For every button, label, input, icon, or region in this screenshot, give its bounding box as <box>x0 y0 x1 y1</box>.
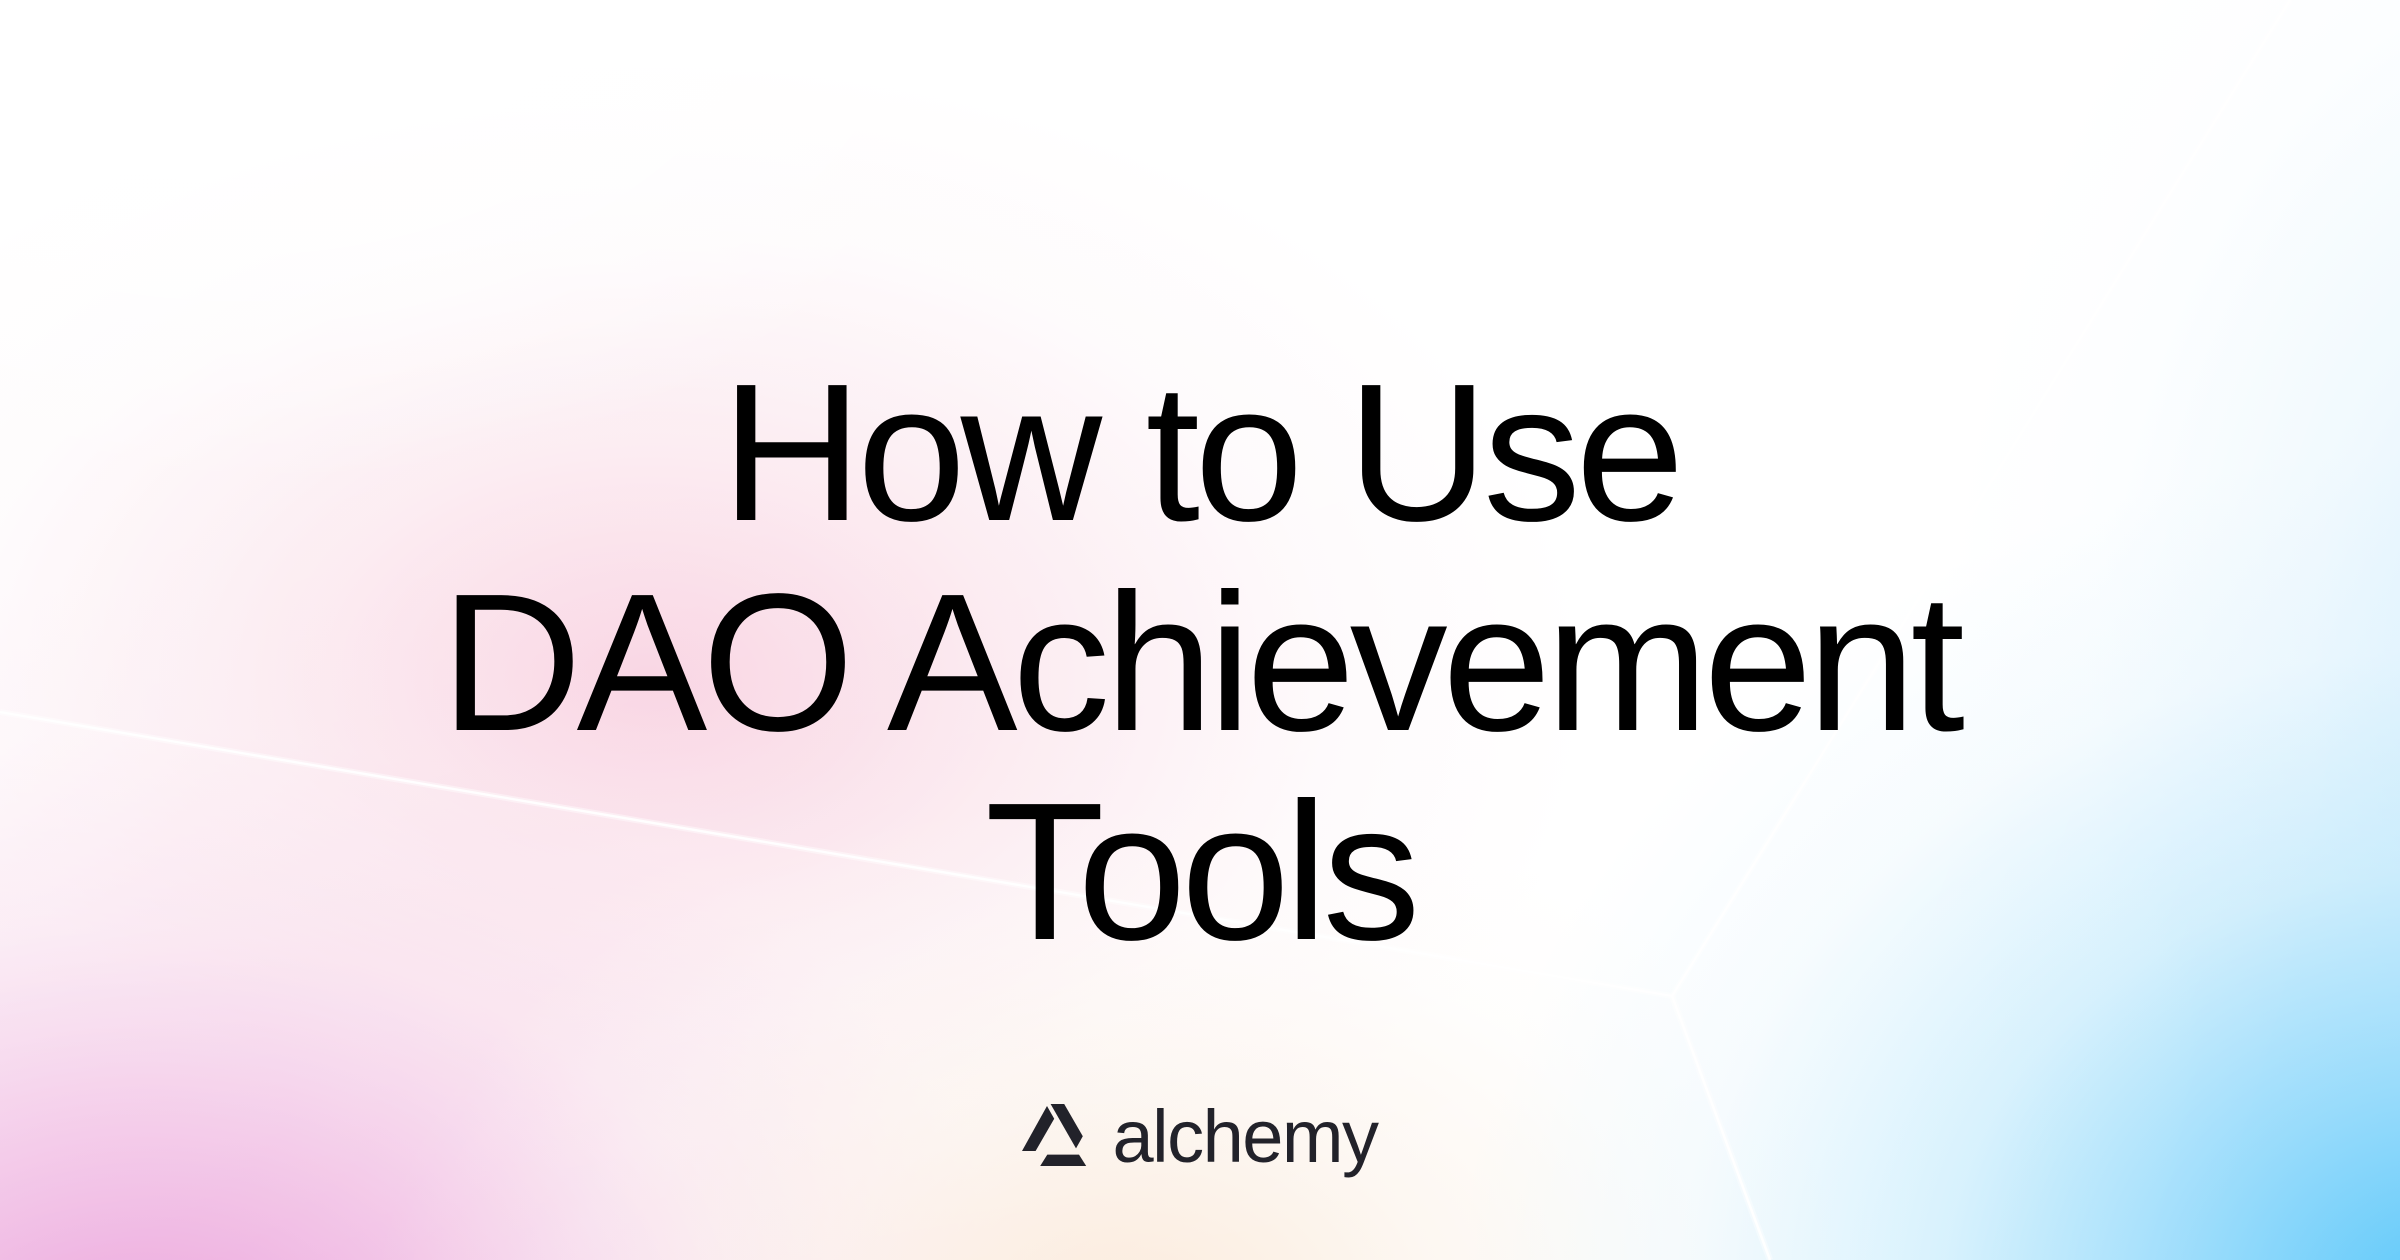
page-title: How to Use DAO Achievement Tools <box>0 0 2400 977</box>
brand-logo-lockup: alchemy <box>0 1098 2400 1172</box>
page-title-line-1: How to Use <box>0 348 2400 558</box>
alchemy-triangle-logo-icon <box>1022 1104 1090 1166</box>
title-card: How to Use DAO Achievement Tools alchemy <box>0 0 2400 1260</box>
alchemy-wordmark: alchemy <box>1112 1100 1377 1174</box>
page-title-line-2: DAO Achievement <box>0 558 2400 768</box>
content-area: How to Use DAO Achievement Tools alchemy <box>0 0 2400 1260</box>
page-title-line-3: Tools <box>0 767 2400 977</box>
